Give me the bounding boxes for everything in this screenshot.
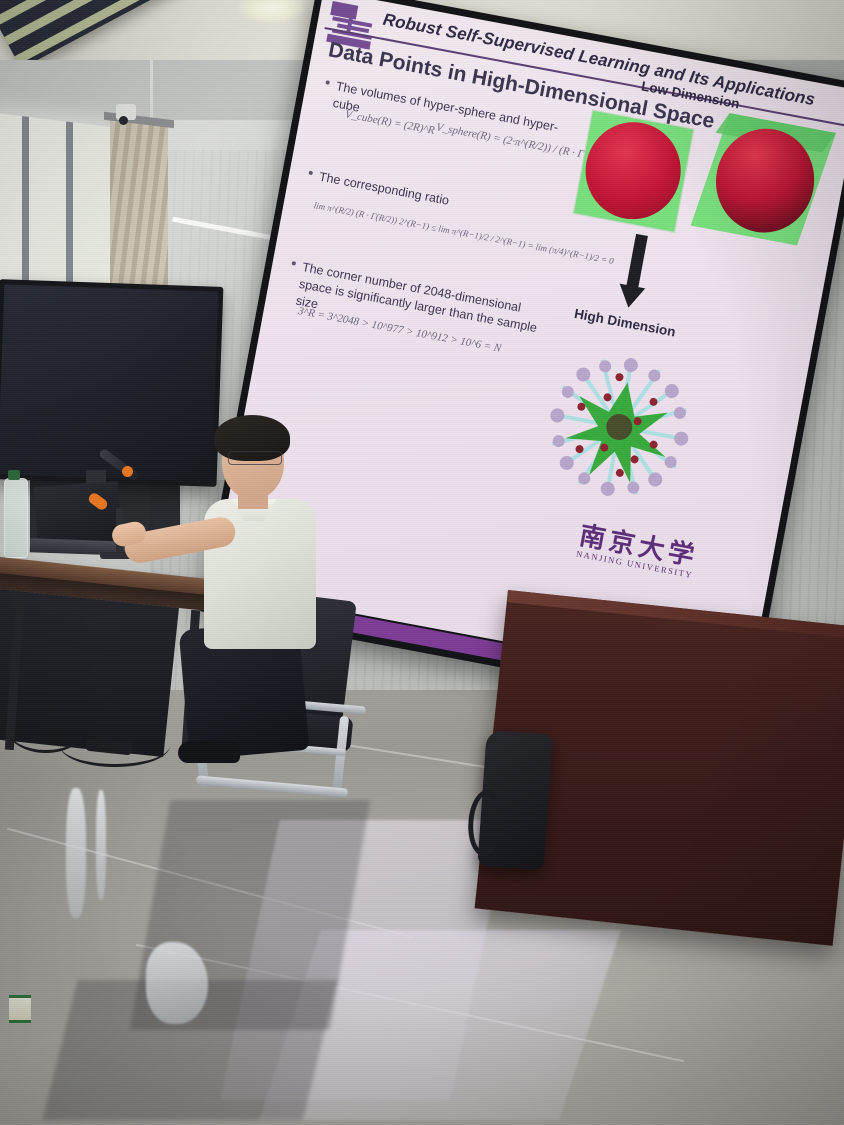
backpack (477, 730, 552, 870)
slide-bullet: The corresponding ratio (318, 169, 567, 232)
floor-highlight (146, 942, 208, 1024)
floor-highlight (96, 790, 106, 900)
bullet-dot-icon (291, 261, 296, 266)
eyeglasses-icon (228, 451, 282, 465)
down-arrow-head-icon (616, 284, 646, 310)
high-dimension-starburst-icon (532, 339, 707, 514)
water-bottle (4, 478, 28, 558)
seated-presenter (170, 415, 360, 755)
presenter-shoe (178, 741, 240, 763)
floor-highlight (66, 788, 86, 918)
slide-bullet-text: The corresponding ratio (318, 170, 450, 208)
lecture-room-photo: Robust Self-Supervised Learning and Its … (0, 0, 844, 1125)
bottle-cap (8, 470, 20, 480)
bullet-dot-icon (308, 171, 313, 176)
slide-bullet-text: The corner number of 2048-dimensional sp… (295, 260, 538, 335)
bottle-label (9, 995, 31, 1023)
high-dimension-label: High Dimension (573, 306, 677, 340)
ceiling-camera-icon (116, 104, 136, 120)
bullet-dot-icon (325, 80, 330, 85)
down-arrow-shaft (626, 234, 648, 291)
microphone-knob (122, 466, 133, 477)
